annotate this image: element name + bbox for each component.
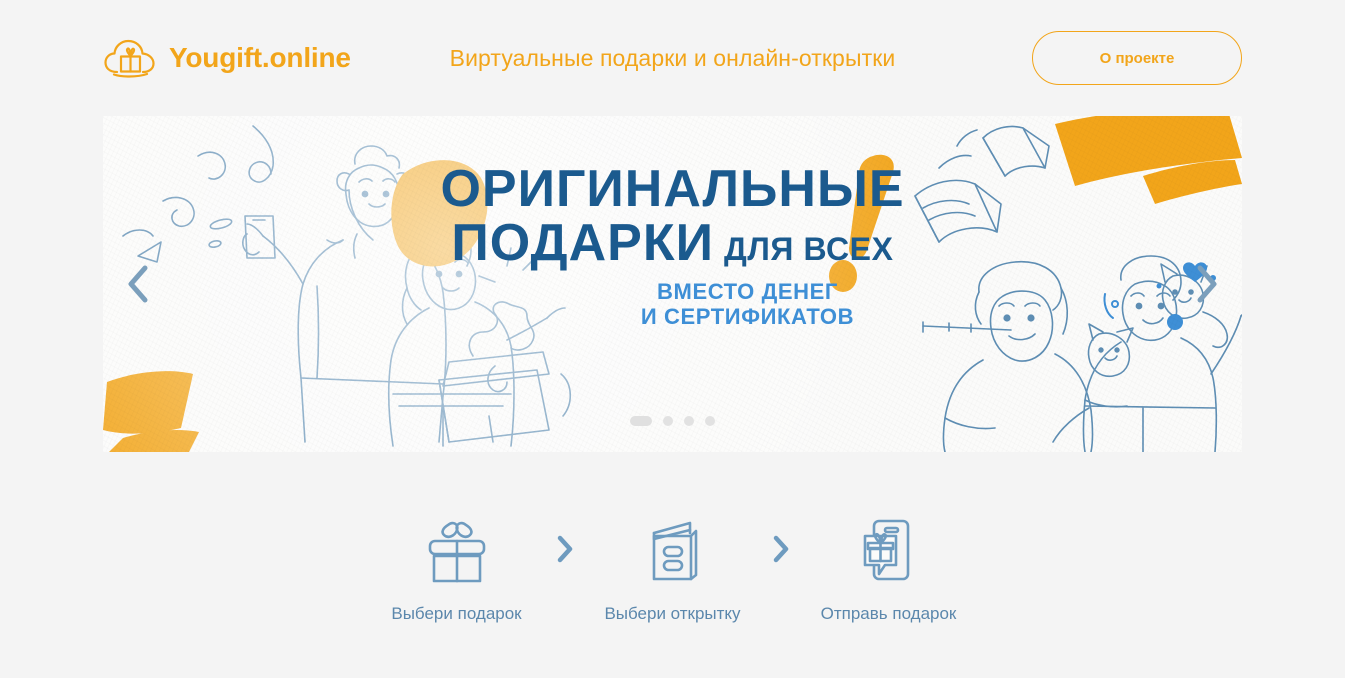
cloud-gift-icon <box>103 37 157 79</box>
step-label: Выбери открытку <box>604 604 740 624</box>
gift-box-icon <box>426 516 488 586</box>
step-choose-card[interactable]: Выбери открытку <box>585 516 761 624</box>
brand-name: Yougift.online <box>169 42 351 74</box>
carousel-dots <box>103 416 1242 426</box>
page-header: Yougift.online Виртуальные подарки и онл… <box>0 0 1345 116</box>
step-choose-gift[interactable]: Выбери подарок <box>369 516 545 624</box>
carousel-next-button[interactable] <box>1190 261 1224 307</box>
chevron-left-icon <box>121 295 155 310</box>
greeting-card-icon <box>644 516 702 586</box>
carousel-prev-button[interactable] <box>121 261 155 307</box>
chevron-right-icon <box>771 534 791 569</box>
phone-gift-icon <box>860 516 918 586</box>
carousel-dot-4[interactable] <box>705 416 715 426</box>
step-separator-1 <box>553 516 577 586</box>
hero-carousel[interactable]: ОРИГИНАЛЬНЫЕ ПОДАРКИ ДЛЯ ВСЕХ ВМЕСТО ДЕН… <box>103 116 1242 452</box>
chevron-right-icon <box>1190 295 1224 310</box>
hero-illustration <box>103 116 1242 452</box>
carousel-dot-2[interactable] <box>663 416 673 426</box>
brand-logo[interactable]: Yougift.online <box>103 37 351 79</box>
chevron-right-icon <box>555 534 575 569</box>
carousel-dot-1[interactable] <box>630 416 652 426</box>
how-it-works-steps: Выбери подарок Выбери открытку <box>0 516 1345 624</box>
step-send-gift[interactable]: Отправь подарок <box>801 516 977 624</box>
about-button[interactable]: О проекте <box>1032 31 1242 85</box>
step-label: Выбери подарок <box>391 604 521 624</box>
step-separator-2 <box>769 516 793 586</box>
step-label: Отправь подарок <box>821 604 957 624</box>
carousel-dot-3[interactable] <box>684 416 694 426</box>
